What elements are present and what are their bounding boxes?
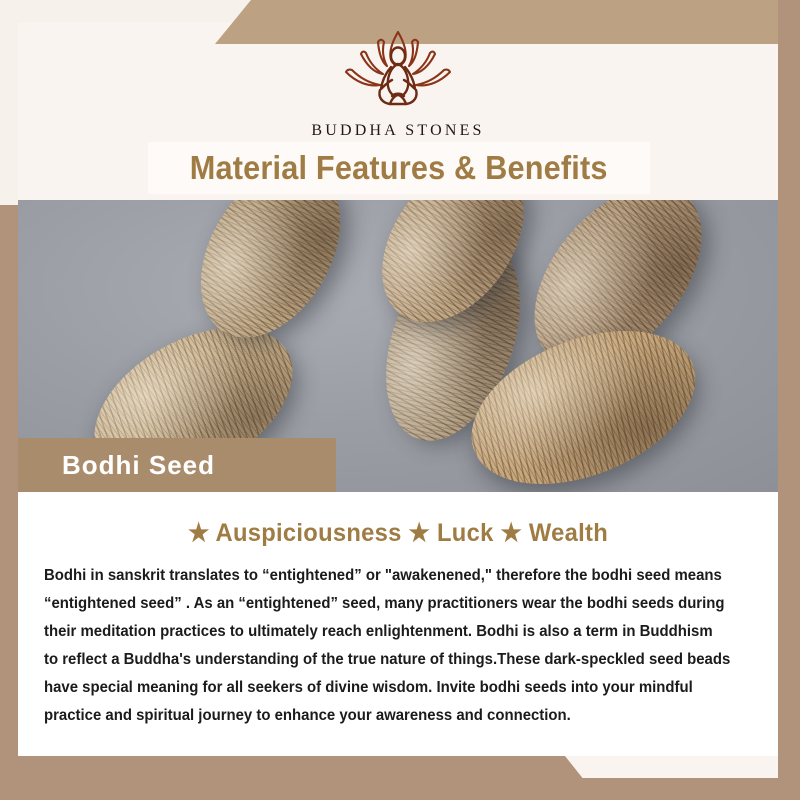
material-label-banner: Bodhi Seed xyxy=(18,438,336,492)
infographic-page: BUDDHA STONES Material Features & Benefi… xyxy=(0,0,800,800)
material-label: Bodhi Seed xyxy=(62,450,215,481)
benefits-line: ★ Auspiciousness ★ Luck ★ Wealth xyxy=(37,518,759,548)
description-panel: ★ Auspiciousness ★ Luck ★ Wealth Bodhi i… xyxy=(18,492,778,756)
lotus-meditation-icon xyxy=(334,26,462,118)
header: BUDDHA STONES Material Features & Benefi… xyxy=(18,22,778,200)
page-title: Material Features & Benefits xyxy=(190,149,608,187)
right-frame-band xyxy=(778,0,800,800)
bottom-corner-decoration xyxy=(0,756,600,800)
title-banner: Material Features & Benefits xyxy=(148,142,650,194)
brand-logo: BUDDHA STONES xyxy=(18,26,778,140)
description-text: Bodhi in sanskrit translates to “entight… xyxy=(44,562,731,730)
left-frame-band xyxy=(0,205,18,778)
brand-name: BUDDHA STONES xyxy=(311,122,484,140)
